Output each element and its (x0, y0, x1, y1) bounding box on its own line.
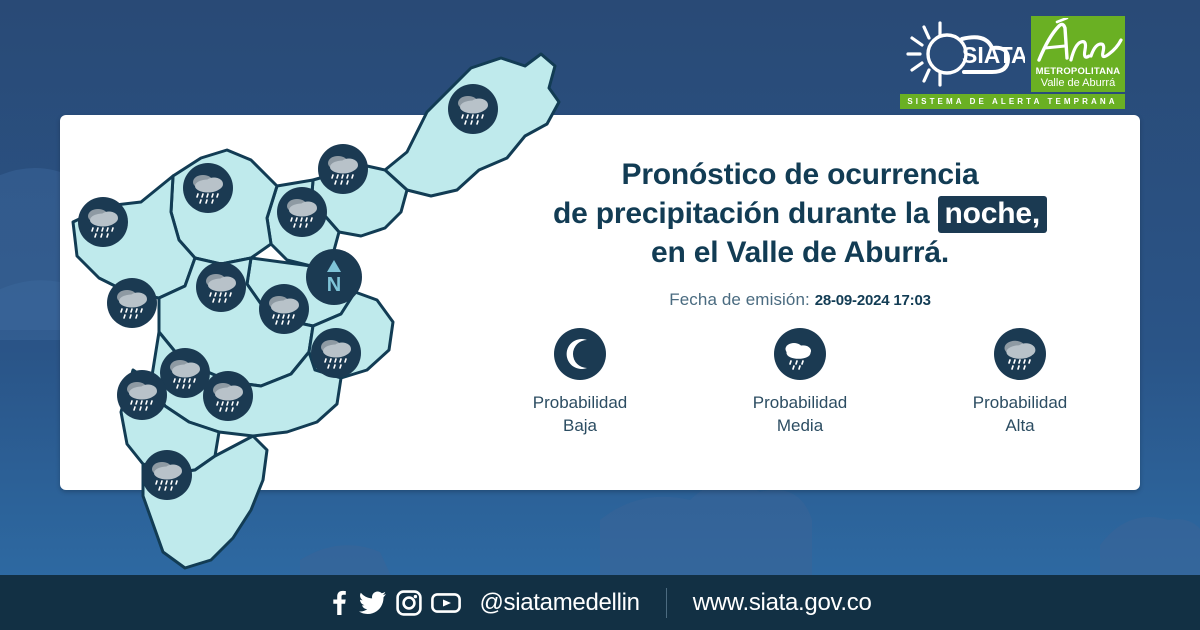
legend-label-baja: Probabilidad Baja (490, 392, 670, 437)
footer-bar: @siatamedellin www.siata.gov.co (0, 575, 1200, 630)
forecast-panel: Pronóstico de ocurrencia de precipitació… (470, 155, 1130, 310)
amva-valle-label: Valle de Aburrá (1031, 77, 1125, 89)
title-line-2-text: de precipitación durante la (553, 197, 938, 230)
title-line-2: de precipitación durante la noche, (470, 194, 1130, 233)
legend-label-alta: Probabilidad Alta (930, 392, 1110, 437)
facebook-icon[interactable] (328, 590, 350, 616)
page-title: Pronóstico de ocurrencia de precipitació… (470, 155, 1130, 272)
siata-tagline-bar: SISTEMA DE ALERTA TEMPRANA (900, 94, 1125, 109)
siata-wordmark: SIATA (962, 42, 1025, 68)
legend-item-baja[interactable]: Probabilidad Baja (490, 328, 670, 437)
title-highlight-noche: noche, (938, 196, 1047, 233)
sun-disc-icon (928, 35, 966, 73)
probability-legend: Probabilidad Baja Probabilidad Media (470, 328, 1130, 437)
amva-metropolitana-label: METROPOLITANA (1031, 66, 1125, 77)
compass-rose: N (306, 249, 362, 305)
emission-date: Fecha de emisión: 28-09-2024 17:03 (470, 290, 1130, 310)
social-icons (328, 590, 461, 616)
title-line-1: Pronóstico de ocurrencia (470, 155, 1130, 194)
legend-item-alta[interactable]: Probabilidad Alta (930, 328, 1110, 437)
youtube-icon[interactable] (431, 591, 461, 615)
siata-logo: SIATA (900, 18, 1025, 90)
footer-divider (666, 588, 667, 618)
website-url[interactable]: www.siata.gov.co (693, 589, 872, 617)
logo-group: SIATA METROPOLITANA Valle de Aburrá SIST… (900, 14, 1130, 110)
title-line-3: en el Valle de Aburrá. (470, 233, 1130, 272)
social-handle[interactable]: @siatamedellin (479, 589, 639, 617)
cloud-moon-rain-icon (774, 328, 826, 380)
legend-item-media[interactable]: Probabilidad Media (710, 328, 890, 437)
amva-logo: METROPOLITANA Valle de Aburrá (1031, 16, 1125, 92)
emission-date-label: Fecha de emisión: (669, 290, 810, 309)
emission-date-value: 28-09-2024 17:03 (815, 292, 931, 309)
area-script-icon (1031, 18, 1125, 66)
twitter-icon[interactable] (359, 590, 387, 616)
sun-rays-icon (908, 23, 940, 85)
cloud-heavy-rain-icon (994, 328, 1046, 380)
legend-label-media: Probabilidad Media (710, 392, 890, 437)
moon-icon (554, 328, 606, 380)
compass-letter: N (327, 274, 341, 296)
instagram-icon[interactable] (396, 590, 422, 616)
